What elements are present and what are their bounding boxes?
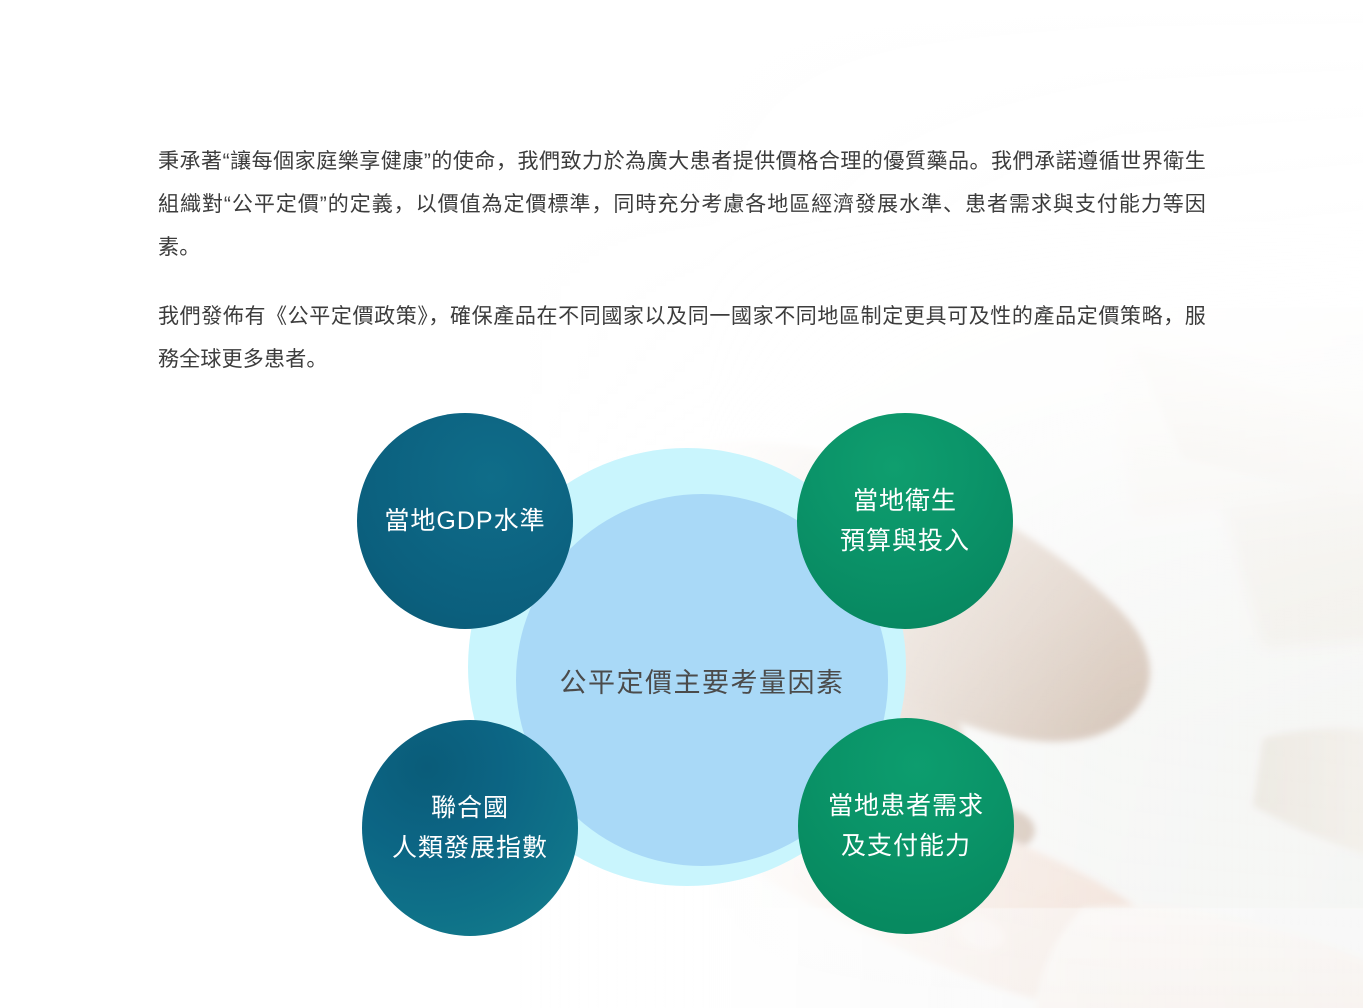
factor-circle-un-hdi[interactable]: 聯合國 人類發展指數 <box>362 720 578 936</box>
factor-label-patient-need-affordability: 當地患者需求 及支付能力 <box>818 786 994 866</box>
factor-label-local-health-budget: 當地衛生 預算與投入 <box>830 481 980 561</box>
factor-label-line-2: 及支付能力 <box>818 826 994 866</box>
center-circle-label: 公平定價主要考量因素 <box>560 661 845 700</box>
factor-circle-local-health-budget[interactable]: 當地衛生 預算與投入 <box>797 413 1013 629</box>
factor-label-line-2: 人類發展指數 <box>382 828 558 868</box>
factor-label-line-2: 預算與投入 <box>830 521 980 561</box>
factor-label-local-gdp-level: 當地GDP水準 <box>374 501 555 541</box>
fair-pricing-factors-diagram: 公平定價主要考量因素 當地GDP水準 當地衛生 預算與投入 聯合國 人類發展指數… <box>0 0 1363 1008</box>
factor-label-line-1: 當地患者需求 <box>818 786 994 826</box>
factor-label-un-hdi: 聯合國 人類發展指數 <box>382 788 558 868</box>
factor-label-line-1: 聯合國 <box>382 788 558 828</box>
factor-circle-patient-need-affordability[interactable]: 當地患者需求 及支付能力 <box>798 718 1014 934</box>
factor-label-line-1: 當地衛生 <box>830 481 980 521</box>
page-root: 秉承著“讓每個家庭樂享健康”的使命，我們致力於為廣大患者提供價格合理的優質藥品。… <box>0 0 1363 1008</box>
factor-circle-local-gdp-level[interactable]: 當地GDP水準 <box>357 413 573 629</box>
